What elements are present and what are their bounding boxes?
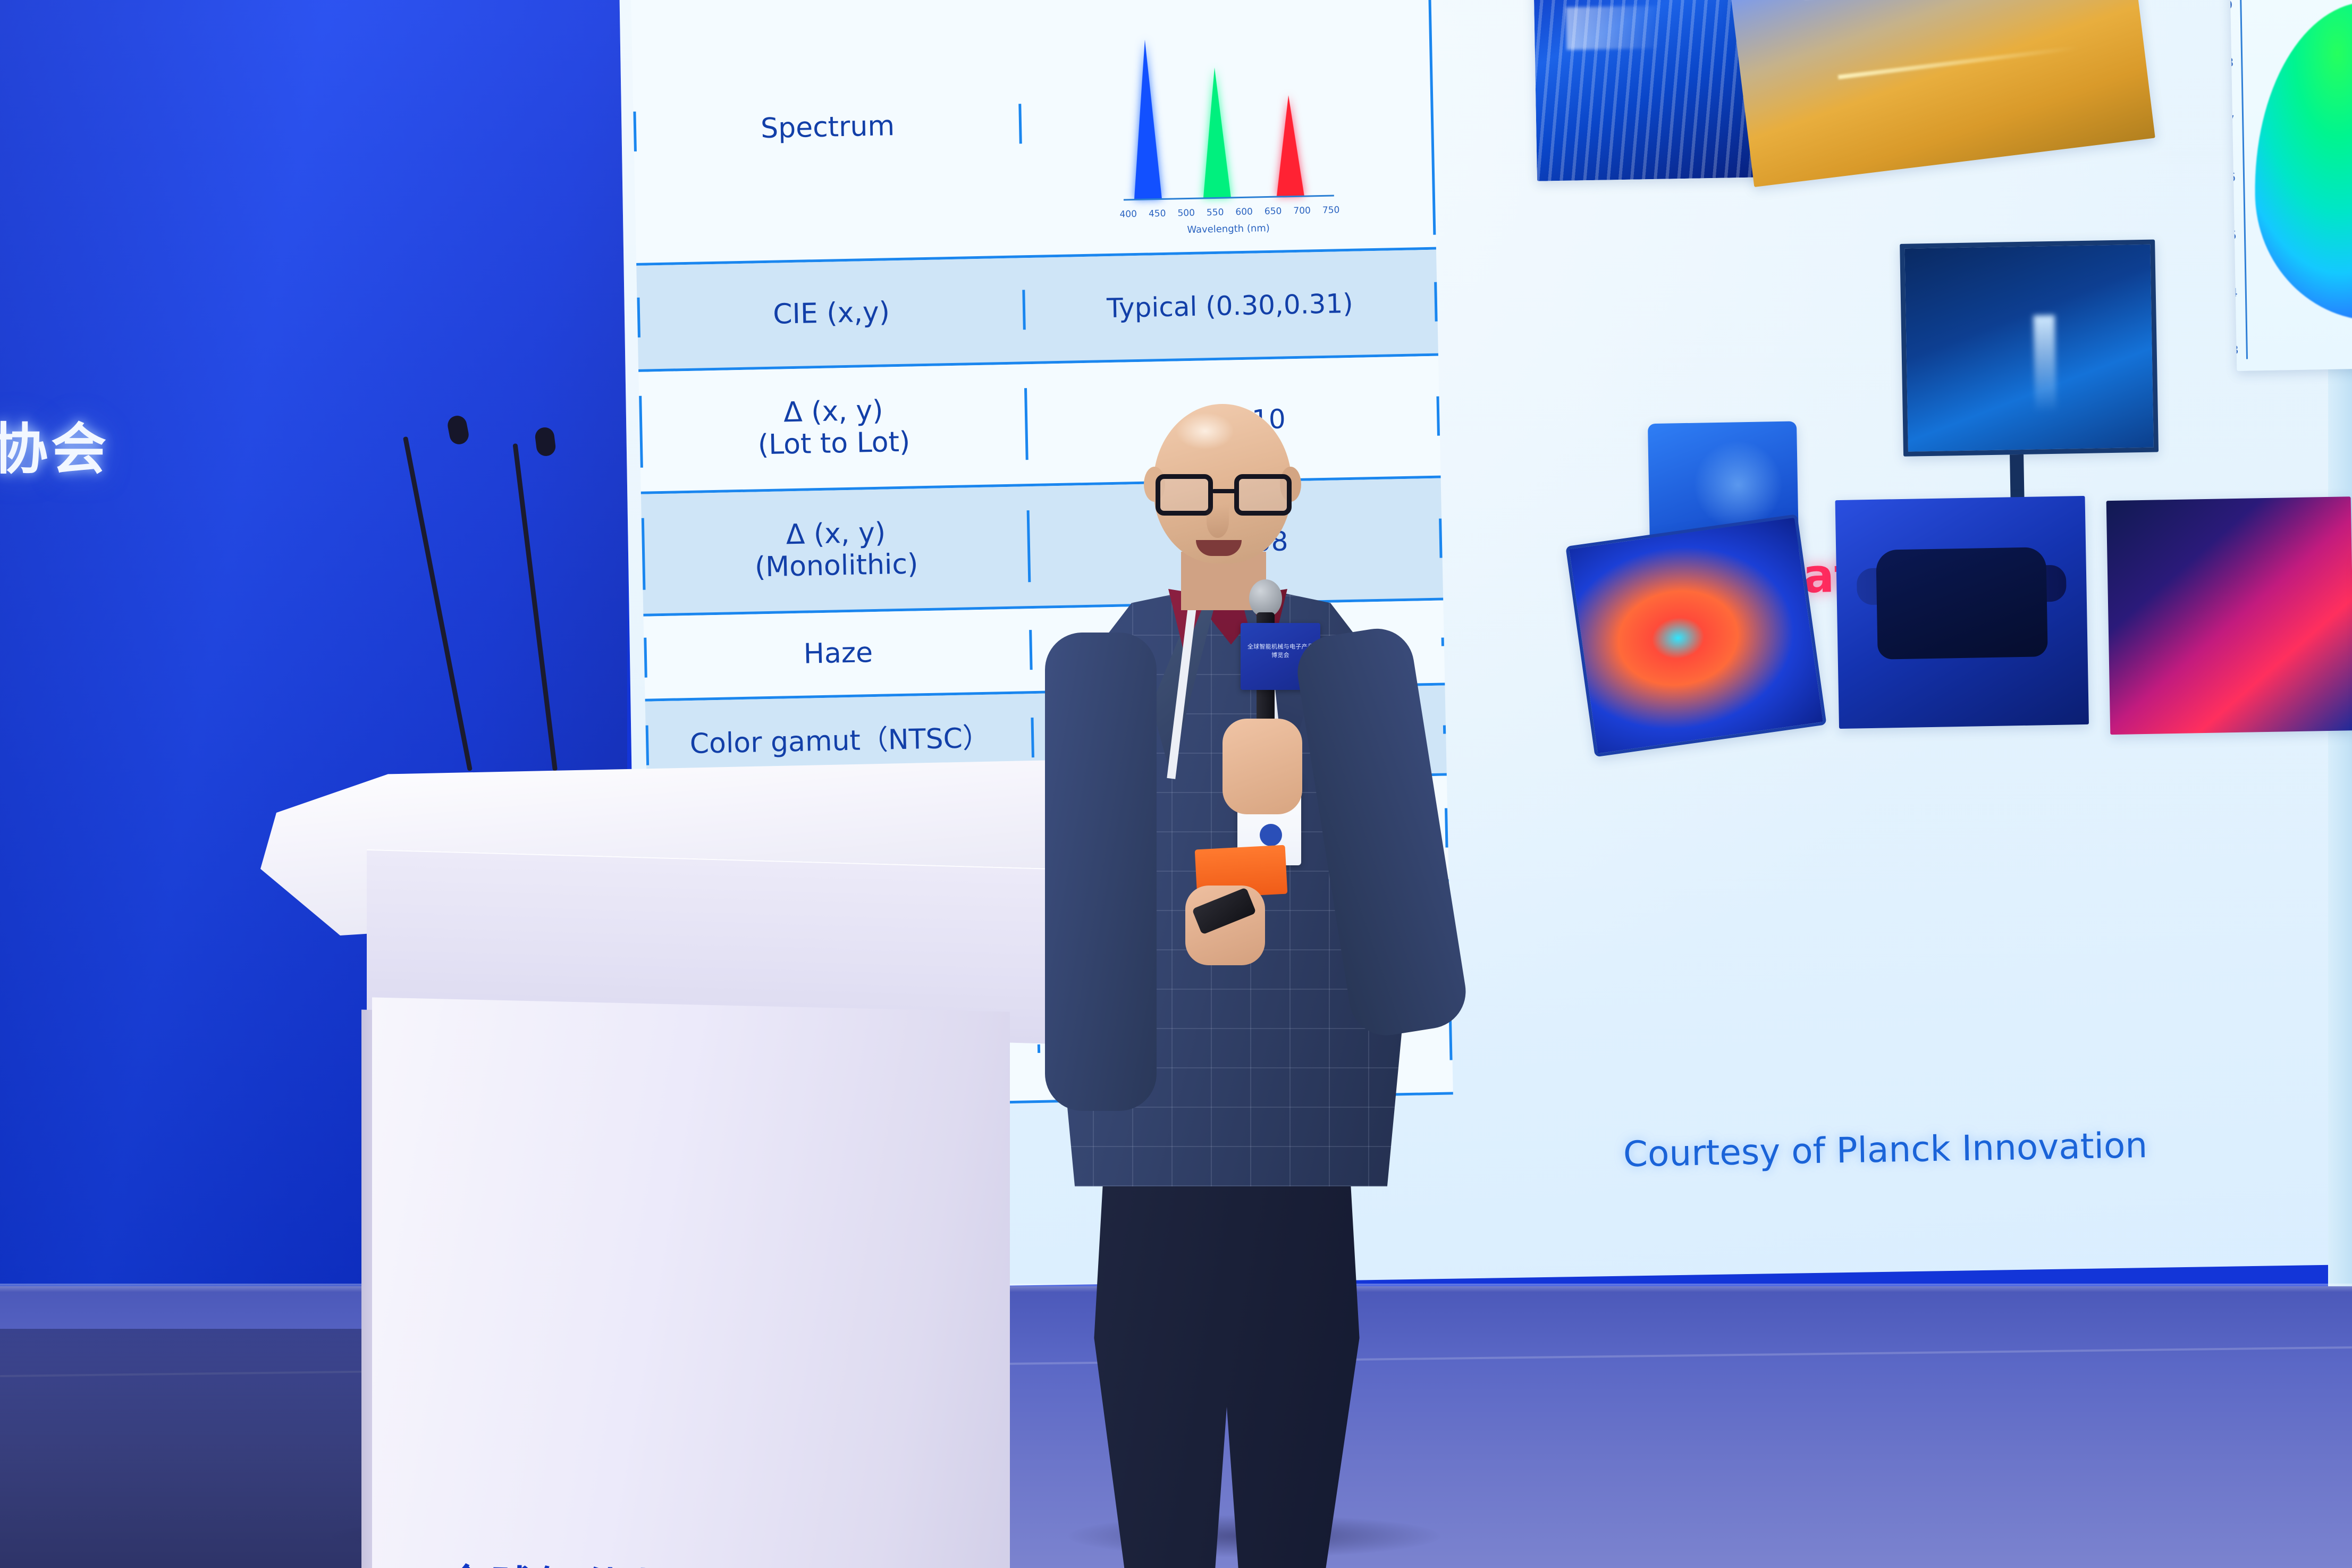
backdrop-association-text: 协会	[0, 404, 109, 484]
photo-neon-display	[2106, 496, 2352, 735]
speaker-hand-holding-mic	[1223, 719, 1302, 814]
photo-tablet-colorful	[1565, 514, 1826, 757]
photo-desktop-monitor	[1900, 240, 2159, 457]
y-tick: 0.9	[2230, 0, 2233, 13]
spectrum-x-ticks: 400 450 500 550 600 650 700 750	[1119, 205, 1339, 220]
spec-label-delta-mono: Δ (x, y)(Monolithic)	[642, 510, 1031, 589]
x-tick: 750	[1322, 205, 1340, 216]
cie-y-axis	[2240, 0, 2248, 359]
spec-label-gamut: Color gamut（NTSC）	[646, 718, 1034, 765]
emission-spectrum-chart: 400 450 500 550 600 650 700 750 Waveleng…	[1112, 6, 1340, 223]
speaker-nose	[1207, 505, 1229, 538]
slide-application-panel: 0.9 0.8 0.7 0.6 0.5 0.4 0.3 Application …	[1560, 0, 2352, 1260]
glasses-bridge	[1212, 489, 1237, 493]
y-tick: 0.3	[2230, 344, 2239, 358]
y-tick: 0.4	[2230, 286, 2238, 300]
cie-chromaticity-diagram: 0.9 0.8 0.7 0.6 0.5 0.4 0.3	[2230, 0, 2352, 371]
y-tick: 0.6	[2230, 171, 2236, 185]
y-tick: 0.7	[2230, 114, 2235, 128]
spectrum-x-axis-label: Wavelength (nm)	[1117, 221, 1340, 237]
x-tick: 600	[1235, 206, 1253, 217]
spectrum-peak-red	[1275, 95, 1304, 196]
x-tick: 700	[1293, 205, 1311, 216]
spec-label-cie: CIE (x,y)	[637, 290, 1025, 338]
table-row-spectrum: Spectrum 400 450 500 550 600	[631, 0, 1436, 266]
podium-body	[372, 997, 1010, 1568]
y-tick: 0.5	[2230, 229, 2237, 242]
table-row-cie: CIE (x,y) Typical (0.30,0.31)	[636, 250, 1438, 372]
y-tick: 0.8	[2230, 56, 2234, 70]
presentation-stage-photo: 协会 µm Spectrum 400 450	[0, 0, 2352, 1568]
spectrum-chart-cell: 400 450 500 550 600 650 700 750 Waveleng…	[1019, 0, 1436, 243]
badge-logo-dot	[1260, 824, 1282, 846]
speaker-head-highlight	[1176, 412, 1234, 450]
cie-gamut-blob	[2252, 0, 2352, 323]
x-tick: 450	[1149, 208, 1166, 219]
glasses-lens-left	[1156, 474, 1213, 516]
x-tick: 500	[1177, 207, 1195, 218]
glasses-lens-right	[1234, 474, 1292, 516]
speaker: 全球智能机械与电子产品博览会	[1026, 404, 1430, 1563]
cie-y-ticks: 0.9 0.8 0.7 0.6 0.5 0.4 0.3	[2230, 0, 2239, 358]
spectrum-peak-green	[1201, 67, 1231, 198]
spec-label-delta-lot: Δ (x, y)(Lot to Lot)	[639, 388, 1029, 467]
spec-value-cie: Typical (0.30,0.31)	[1025, 282, 1437, 330]
vr-body	[1876, 547, 2047, 660]
photo-vr-headset	[1835, 496, 2089, 729]
spectrum-peak-blue	[1131, 39, 1162, 199]
spec-label-haze: Haze	[644, 630, 1032, 678]
x-tick: 550	[1207, 207, 1224, 218]
courtesy-credit: Courtesy of Planck Innovation	[1623, 1125, 2147, 1175]
speaker-arm-left	[1045, 633, 1157, 1111]
photo-film-roll	[1722, 0, 2155, 187]
x-tick: 400	[1119, 208, 1137, 220]
speaker-podium: 全球智能机械与电子产品博览会 GLOBAL ARTIFICIAL INTELLI…	[255, 760, 1074, 1547]
speaker-trousers	[1089, 1143, 1365, 1568]
photo-fab-equipment	[1533, 0, 1766, 181]
spec-label-spectrum: Spectrum	[633, 104, 1022, 151]
x-tick: 650	[1264, 206, 1282, 217]
